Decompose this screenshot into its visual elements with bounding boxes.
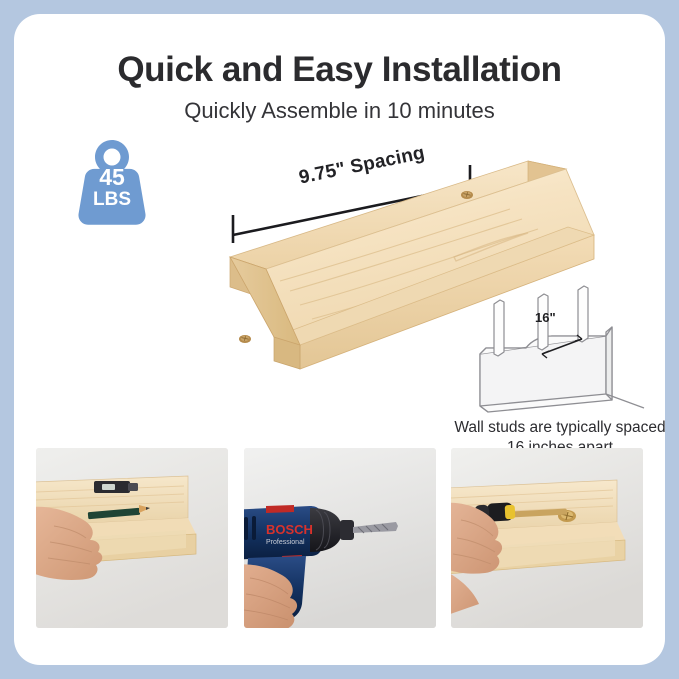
product-infographic: Quick and Easy Installation Quickly Asse… xyxy=(0,0,679,679)
mounting-screw xyxy=(461,191,473,199)
page-subtitle: Quickly Assemble in 10 minutes xyxy=(14,98,665,124)
wall-stud-diagram xyxy=(466,282,656,417)
stud-spacing-label: 16" xyxy=(535,310,556,325)
installation-steps: BOSCH Professional xyxy=(36,448,643,628)
page-title: Quick and Easy Installation xyxy=(14,50,665,90)
svg-text:BOSCH: BOSCH xyxy=(266,522,313,537)
svg-text:Professional: Professional xyxy=(266,539,305,546)
step-drill-hole: BOSCH Professional xyxy=(244,448,436,628)
step-drive-screw xyxy=(451,448,643,628)
wall-stud xyxy=(494,300,504,356)
mounting-screw xyxy=(239,335,251,343)
wall-stud xyxy=(578,286,588,342)
step-mark-with-pencil xyxy=(36,448,228,628)
content-card: Quick and Easy Installation Quickly Asse… xyxy=(14,14,665,665)
